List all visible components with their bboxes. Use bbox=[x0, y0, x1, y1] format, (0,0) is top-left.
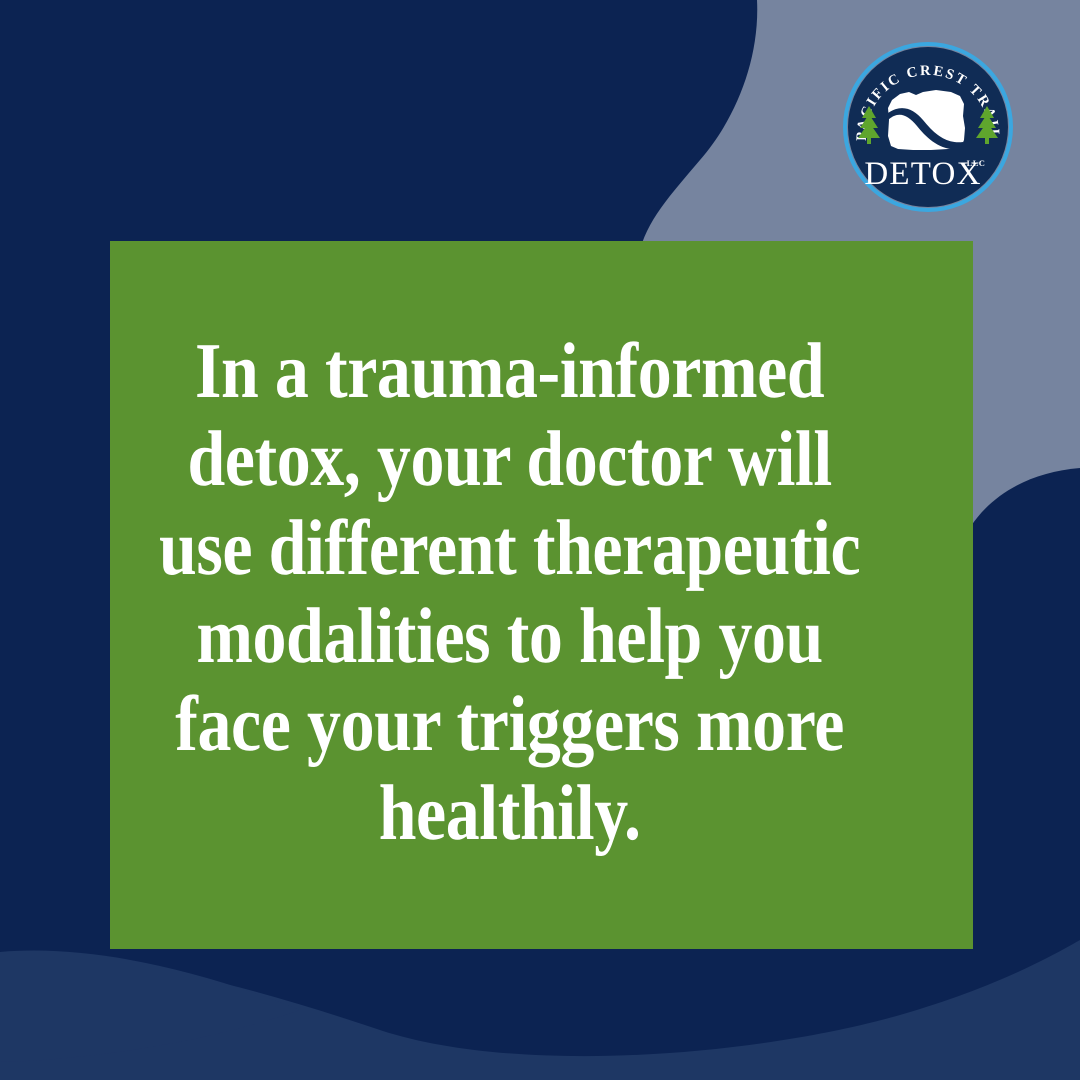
logo-wordmark: DETOX bbox=[864, 156, 981, 192]
social-graphic-canvas: In a trauma-informed detox, your doctor … bbox=[0, 0, 1080, 1080]
logo-suffix: LLC bbox=[967, 158, 986, 168]
oregon-state-outline-icon bbox=[888, 90, 965, 150]
pacific-crest-trail-detox-logo[interactable]: PACIFIC CREST TRAIL bbox=[843, 42, 1013, 212]
quote-panel: In a trauma-informed detox, your doctor … bbox=[110, 241, 973, 949]
quote-text: In a trauma-informed detox, your doctor … bbox=[136, 328, 882, 859]
